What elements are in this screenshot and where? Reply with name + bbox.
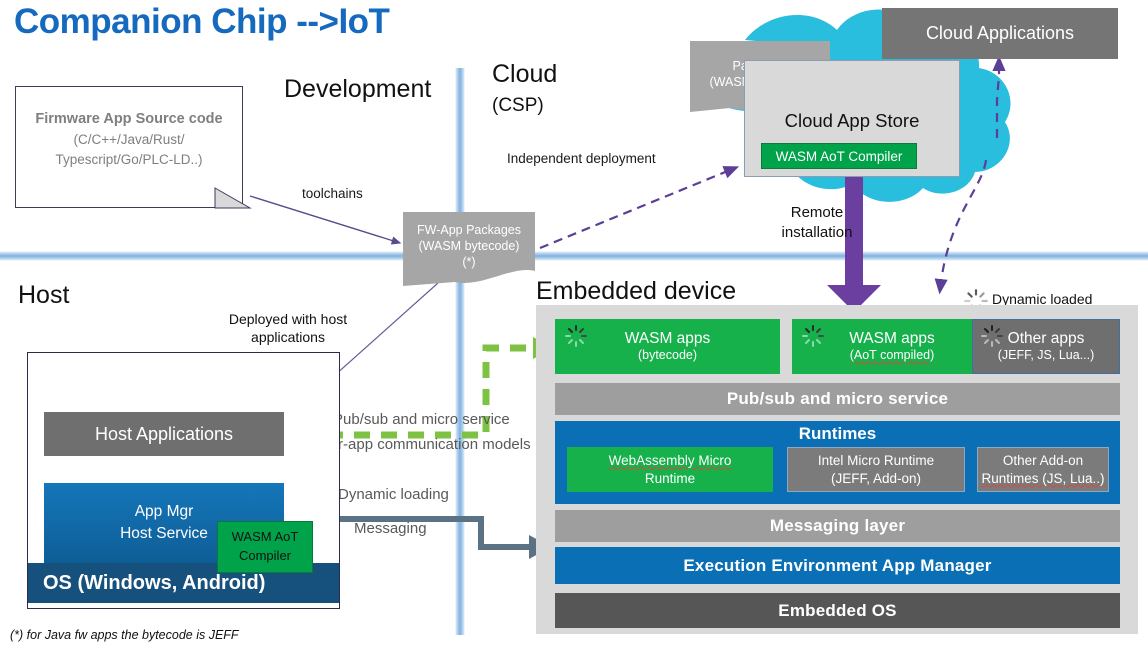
app-mgr-line2: Host Service bbox=[120, 523, 208, 545]
runtime-intel-micro[interactable]: Intel Micro Runtime (JEFF, Add-on) bbox=[787, 447, 965, 492]
cloud-applications-label: Cloud Applications bbox=[926, 23, 1074, 44]
dynamic-loading-label: Dynamic loading bbox=[338, 486, 449, 503]
spinner-icon bbox=[801, 324, 825, 348]
cloud-apps-uplink-arrow bbox=[997, 60, 999, 138]
cloud-applications-box[interactable]: Cloud Applications bbox=[882, 8, 1118, 59]
deployed-with-host-label: Deployed with host applications bbox=[206, 310, 370, 346]
embedded-messaging-layer-bar: Messaging layer bbox=[555, 510, 1120, 542]
host-aot-line1: WASM AoT bbox=[232, 528, 299, 547]
embedded-runtimes-band: Runtimes WebAssembly Micro Runtime Intel… bbox=[555, 421, 1120, 504]
footnote: (*) for Java fw apps the bytecode is JEF… bbox=[10, 628, 239, 642]
section-development-label: Development bbox=[284, 75, 431, 104]
section-cloud-label: Cloud bbox=[492, 60, 557, 89]
page-title: Companion Chip -->IoT bbox=[14, 2, 389, 42]
embedded-pubsub-bar: Pub/sub and micro service bbox=[555, 383, 1120, 415]
inter-app-communication-label: Inter-app communication models bbox=[313, 436, 531, 453]
app-mgr-line1: App Mgr bbox=[135, 501, 194, 523]
host-wasm-aot-compiler[interactable]: WASM AoT Compiler bbox=[217, 521, 313, 573]
remote-installation-label: Remote installation bbox=[762, 203, 872, 242]
cloud-app-store-title: Cloud App Store bbox=[745, 110, 959, 132]
host-applications-box[interactable]: Host Applications bbox=[44, 412, 284, 456]
embedded-app-wasm-bytecode[interactable]: WASM apps (bytecode) bbox=[555, 319, 780, 374]
source-line2: (C/C++/Java/Rust/ bbox=[16, 130, 242, 150]
section-embedded-label: Embedded device bbox=[536, 277, 736, 306]
runtimes-title: Runtimes bbox=[555, 424, 1120, 444]
fw-app-packages-ribbon: FW-App Packages (WASM bytecode) (*) bbox=[403, 218, 535, 274]
toolchains-label: toolchains bbox=[302, 186, 363, 201]
cloud-app-store-box[interactable]: Cloud App Store WASM AoT Compiler bbox=[744, 60, 960, 177]
host-aot-line2: Compiler bbox=[239, 547, 291, 566]
embedded-device-container: WASM apps (bytecode) WASM apps (AoT comp… bbox=[536, 305, 1138, 634]
spinner-icon bbox=[564, 324, 588, 348]
embedded-app-manager-bar: Execution Environment App Manager bbox=[555, 547, 1120, 584]
cloud-to-device-arrow bbox=[940, 160, 986, 290]
independent-deployment-arrow bbox=[540, 168, 735, 248]
cloud-wasm-aot-compiler[interactable]: WASM AoT Compiler bbox=[761, 143, 917, 169]
toolchains-arrow bbox=[250, 196, 400, 243]
firmware-source-code-box: Firmware App Source code (C/C++/Java/Rus… bbox=[15, 86, 243, 208]
messaging-label: Messaging bbox=[354, 520, 427, 537]
runtime-other-addon[interactable]: Other Add-on Runtimes (JS, Lua..) bbox=[977, 447, 1109, 492]
host-applications-label: Host Applications bbox=[95, 424, 233, 445]
section-cloud-sublabel: (CSP) bbox=[492, 95, 544, 117]
pubsub-micro-service-label: Pub/sub and micro service bbox=[333, 411, 510, 428]
spinner-icon bbox=[980, 324, 1004, 348]
source-line3: Typescript/Go/PLC-LD..) bbox=[16, 150, 242, 170]
embedded-os-bar: Embedded OS bbox=[555, 593, 1120, 628]
source-heading: Firmware App Source code bbox=[16, 109, 242, 130]
diagram-canvas: Companion Chip -->IoT Development Cloud … bbox=[0, 0, 1148, 653]
horizontal-divider bbox=[0, 251, 1148, 261]
independent-deployment-label: Independent deployment bbox=[507, 151, 656, 166]
section-host-label: Host bbox=[18, 281, 69, 310]
host-os-label: OS (Windows, Android) bbox=[43, 572, 265, 595]
vertical-divider bbox=[455, 68, 465, 635]
runtime-wasm-micro[interactable]: WebAssembly Micro Runtime bbox=[567, 447, 773, 492]
